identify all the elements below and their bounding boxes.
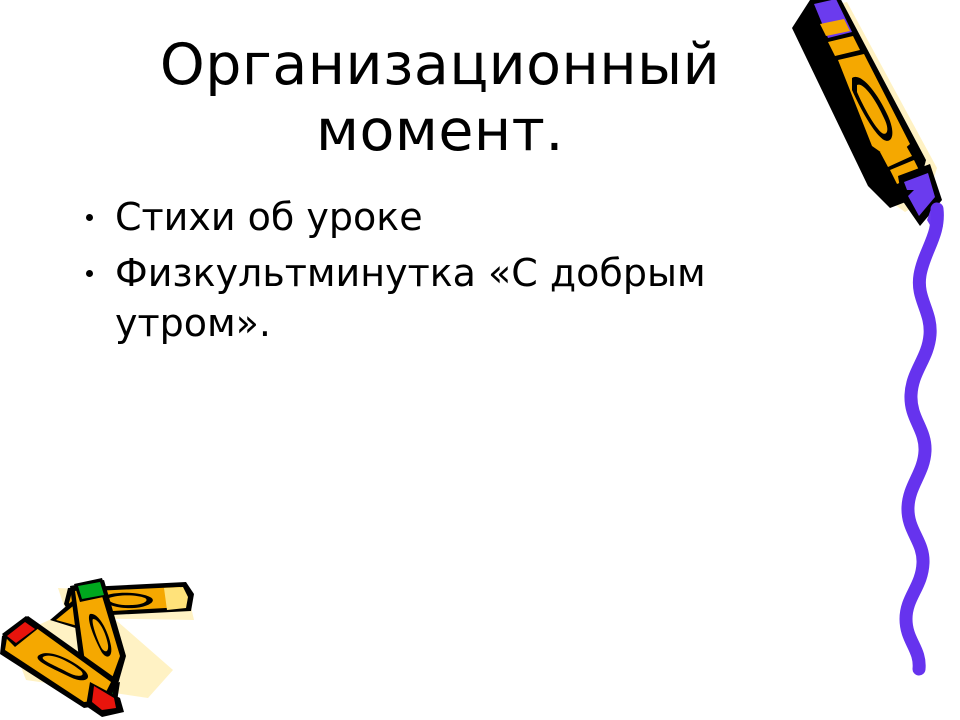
crayon-cluster-shadows bbox=[10, 588, 194, 698]
crayon-band-1 bbox=[820, 19, 850, 36]
crayon-horizontal bbox=[64, 582, 194, 617]
crayon-label-oval bbox=[852, 77, 892, 141]
crayon-red-label-inner bbox=[43, 656, 83, 676]
crayon-green-tip-wood bbox=[56, 602, 88, 626]
list-item-label: Физкультминутка «С добрым утром». bbox=[115, 248, 750, 348]
bullet-dot-icon bbox=[70, 248, 115, 298]
crayon-top-right-decoration bbox=[780, 0, 960, 244]
crayon-top-purple bbox=[814, 0, 852, 38]
list-item: Физкультминутка «С добрым утром». bbox=[70, 248, 750, 348]
bullet-list: Стихи об уроке Физкультминутка «С добрым… bbox=[70, 192, 750, 354]
crayon-horizontal-body bbox=[69, 587, 186, 613]
crayon-red-tip bbox=[92, 686, 116, 710]
list-item-label: Стихи об уроке bbox=[115, 192, 750, 242]
crayon-green-bottom-outline bbox=[98, 682, 120, 714]
crayon-red-body bbox=[5, 622, 111, 702]
slide-canvas: Организационный момент. Стихи об уроке Ф… bbox=[0, 0, 960, 720]
crayon-wrapper-body bbox=[838, 54, 910, 160]
crayon-horizontal-label-inner bbox=[109, 595, 147, 605]
squiggle-right-decoration bbox=[880, 195, 960, 695]
crayon-red-cap-outline bbox=[2, 616, 40, 647]
crayon-green-cap bbox=[78, 582, 104, 599]
crayon-band-3 bbox=[880, 142, 912, 167]
crayon-band-2 bbox=[828, 36, 860, 56]
crayon-tip-outline bbox=[898, 164, 942, 226]
crayon-shadow bbox=[805, 2, 937, 212]
crayon-cluster-bottom-left-decoration bbox=[0, 558, 213, 718]
crayon-tip-purple bbox=[904, 173, 935, 216]
crayon-green-label-inner bbox=[93, 619, 109, 651]
crayon-green-tip-outline bbox=[50, 596, 94, 630]
crayon-red-label bbox=[37, 653, 88, 680]
crayon-green-outline bbox=[70, 580, 126, 688]
crayon-horizontal-end bbox=[164, 587, 188, 610]
wavy-line-path bbox=[906, 209, 937, 669]
crayon-tip-point bbox=[927, 206, 943, 237]
crayon-red-outline bbox=[0, 616, 118, 708]
slide-title: Организационный момент. bbox=[110, 32, 770, 164]
crayon-green-cap-outline bbox=[74, 578, 108, 602]
crayon-red-tip-outline bbox=[86, 682, 124, 717]
crayon-green-bottom bbox=[102, 686, 114, 707]
crayon-horizontal-label bbox=[103, 593, 152, 608]
crayon-label-oval-inner bbox=[857, 85, 887, 134]
crayon-band-4 bbox=[890, 160, 921, 184]
crayon-red bbox=[0, 616, 124, 717]
crayon-red-cap bbox=[7, 622, 35, 643]
crayon-outline bbox=[792, 0, 926, 208]
crayon-green-label bbox=[89, 614, 111, 657]
crayon-green-body bbox=[75, 586, 120, 681]
bullet-dot-icon bbox=[70, 192, 115, 242]
crayon-green bbox=[50, 578, 126, 714]
crayon-horizontal-outline bbox=[64, 582, 194, 617]
list-item: Стихи об уроке bbox=[70, 192, 750, 242]
